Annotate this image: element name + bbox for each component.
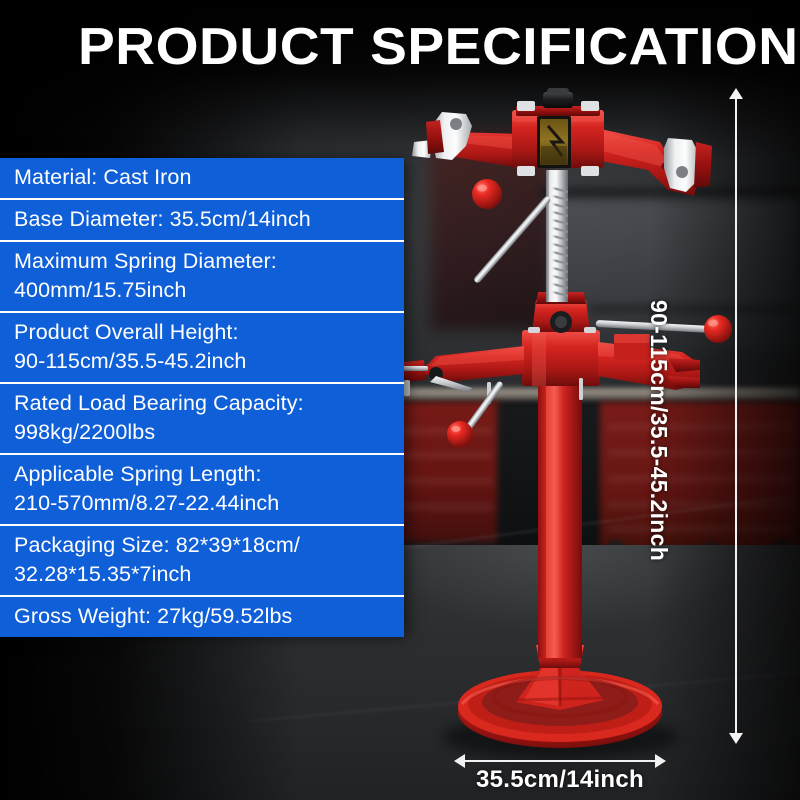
spec-row-base-diameter: Base Diameter: 35.5cm/14inch: [0, 198, 404, 240]
height-dimension-line: [735, 92, 737, 742]
specification-panel: Material: Cast Iron Base Diameter: 35.5c…: [0, 158, 404, 637]
width-dimension-line: [462, 760, 660, 762]
product-specification-image: PRODUCT SPECIFICATION Material: Cast Iro…: [0, 0, 800, 800]
page-title: PRODUCT SPECIFICATION: [78, 18, 799, 76]
spec-row-overall-height: Product Overall Height:90-115cm/35.5-45.…: [0, 311, 404, 382]
spec-row-rated-load: Rated Load Bearing Capacity:998kg/2200lb…: [0, 382, 404, 453]
threaded-screw-shaft: [546, 170, 568, 302]
height-arrow-bottom-icon: [729, 733, 743, 744]
spec-row-gross-weight: Gross Weight: 27kg/59.52lbs: [0, 595, 404, 637]
spec-row-packaging-size: Packaging Size: 82*39*18cm/32.28*15.35*7…: [0, 524, 404, 595]
product-column: [538, 374, 582, 658]
spec-row-max-spring-diameter: Maximum Spring Diameter:400mm/15.75inch: [0, 240, 404, 311]
height-arrow-top-icon: [729, 88, 743, 99]
spec-row-spring-length: Applicable Spring Length:210-570mm/8.27-…: [0, 453, 404, 524]
spec-row-material: Material: Cast Iron: [0, 158, 404, 198]
lower-left-handle-lever: [447, 380, 504, 447]
width-dimension-label: 35.5cm/14inch: [430, 766, 690, 794]
height-dimension-label: 90-115cm/35.5-45.2inch: [645, 300, 672, 560]
product-base: [458, 645, 662, 748]
upper-handle-lever: [472, 179, 552, 284]
